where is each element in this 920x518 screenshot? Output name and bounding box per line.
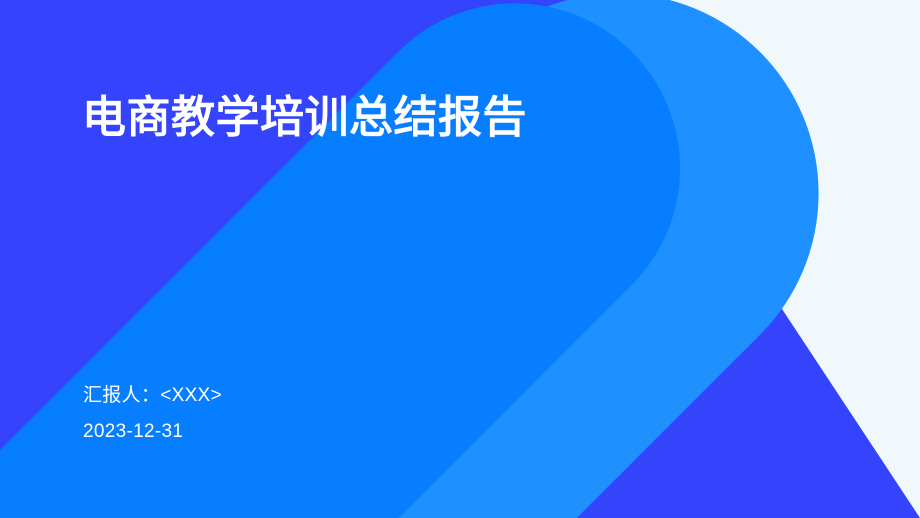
page-title: 电商教学培训总结报告 — [82, 83, 552, 153]
date-line: 2023-12-31 — [83, 414, 222, 450]
slide-meta: 汇报人：<XXX> 2023-12-31 — [83, 378, 222, 450]
title-slide: 电商教学培训总结报告 汇报人：<XXX> 2023-12-31 — [0, 0, 920, 518]
presenter-line: 汇报人：<XXX> — [83, 378, 222, 414]
